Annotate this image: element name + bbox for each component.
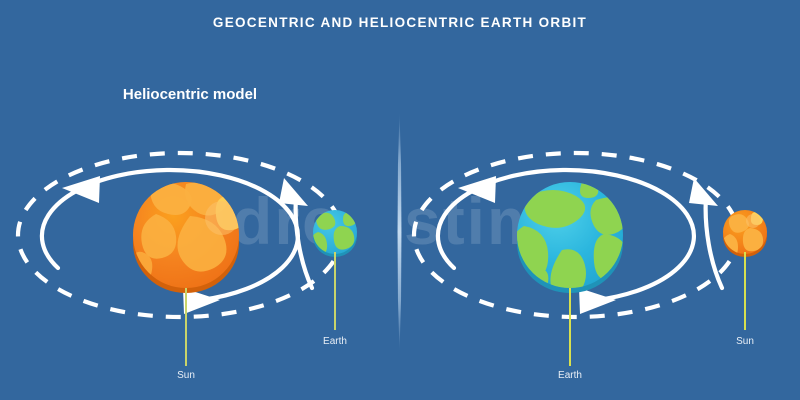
body-rotation-arc — [706, 196, 722, 288]
sun-body — [129, 182, 244, 293]
outer-orbit-arrowhead — [62, 176, 100, 203]
earth-body-small — [310, 210, 357, 257]
panel-title-heliocentric: Heliocentric model — [40, 86, 340, 103]
illustration-canvas: GEOCENTRIC AND HELIOCENTRIC EARTH ORBIT … — [0, 0, 800, 400]
panel-heliocentric: Heliocentric model Sun Earth — [0, 0, 400, 400]
body-rotation-arc — [296, 196, 312, 288]
label-earth-right: Earth — [530, 370, 610, 381]
label-sun-right: Sun — [705, 336, 785, 347]
label-earth-left: Earth — [295, 336, 375, 347]
body-rotation-arrowhead — [279, 178, 308, 206]
inner-orbit-arrowhead — [579, 288, 616, 314]
label-sun-left: Sun — [146, 370, 226, 381]
earth-body-large — [507, 181, 628, 302]
outer-orbit-arrowhead — [458, 176, 496, 203]
sun-body-small — [721, 210, 767, 259]
panel-geocentric: Geocentric model Earth Sun — [400, 0, 800, 400]
